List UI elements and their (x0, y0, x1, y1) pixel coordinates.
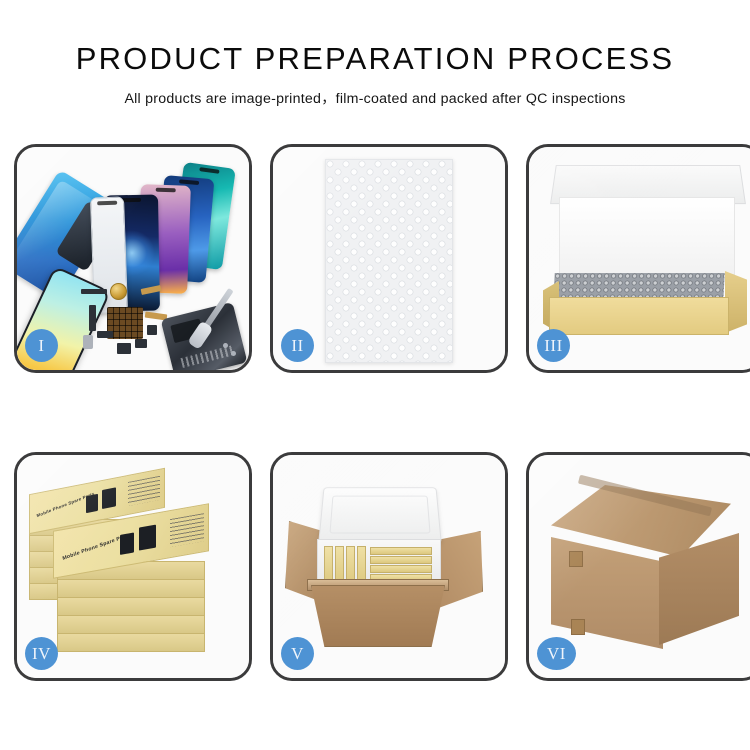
small-module-part (97, 331, 113, 338)
carton-body (311, 585, 445, 647)
button-part (135, 339, 147, 348)
bubble-texture (326, 160, 452, 362)
step-panel-1: I (14, 144, 252, 373)
step-badge-5: V (281, 637, 314, 670)
yellow-box (370, 556, 432, 564)
notch-icon (97, 201, 117, 206)
step-panel-6: VI (526, 452, 750, 681)
tape-patch (569, 551, 583, 567)
step-panel-2: II (270, 144, 508, 373)
product-preparation-infographic: PRODUCT PREPARATION PROCESS All products… (0, 0, 750, 750)
box-thumbnail (120, 532, 134, 554)
stacked-box (57, 633, 205, 652)
screw-part (231, 351, 236, 356)
stacked-box (57, 615, 205, 634)
step-panel-3: III (526, 144, 750, 373)
camera-part (83, 335, 93, 349)
step-badge-4: IV (25, 637, 58, 670)
step-panel-5: V (270, 452, 508, 681)
bubble-wrap-bag (325, 159, 453, 363)
box-thumbnail (139, 525, 156, 551)
box-thumbnail (86, 494, 98, 513)
earpiece-part (81, 289, 107, 294)
steps-grid: I II (0, 0, 750, 750)
step-badge-1: I (25, 329, 58, 362)
sensor-part (147, 325, 157, 335)
flex-cable-part (89, 305, 96, 331)
step-panel-4: Mobile Phone Spare Parts Mobile Phone Sp… (14, 452, 252, 681)
step-badge-2: II (281, 329, 314, 362)
yellow-box (370, 547, 432, 555)
tape-patch (571, 619, 585, 635)
notch-icon (199, 167, 219, 174)
stacked-box (57, 597, 205, 616)
yellow-box (370, 565, 432, 573)
notch-icon (156, 188, 176, 193)
box-front-wall (549, 297, 729, 335)
stacked-box (57, 579, 205, 598)
step-badge-6: VI (537, 637, 576, 670)
notch-icon (179, 179, 199, 185)
speaker-part (117, 343, 131, 354)
step-badge-3: III (537, 329, 570, 362)
box-thumbnail (102, 487, 116, 509)
white-foam-sheet (559, 197, 735, 275)
box-spec-lines (128, 476, 160, 506)
screw-part (223, 343, 228, 348)
styrofoam-lid (318, 487, 442, 543)
carton-front-face (551, 537, 663, 649)
box-spec-lines (170, 513, 204, 547)
vibration-motor-part (110, 283, 127, 300)
